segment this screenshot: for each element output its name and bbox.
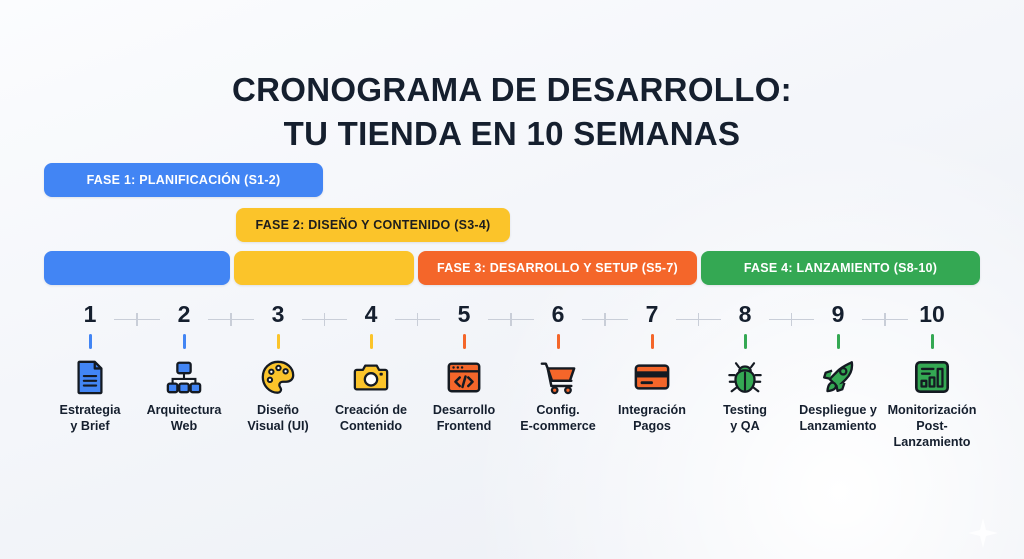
milestone-dash [463, 334, 466, 349]
credit-card-icon [633, 358, 671, 396]
phase-bar-label: FASE 3: DESARROLLO Y SETUP (S5-7) [437, 261, 678, 275]
phase-bar-label: FASE 1: PLANIFICACIÓN (S1-2) [87, 173, 281, 187]
milestone-dash [744, 334, 747, 349]
milestone-dash [651, 334, 654, 349]
timeline-connector [769, 313, 814, 327]
timeline-connector [395, 313, 440, 327]
connector-tick [884, 313, 885, 326]
milestone-label: Despliegue y Lanzamiento [788, 402, 888, 434]
milestone-label: Estrategia y Brief [40, 402, 140, 434]
milestone-label: Integración Pagos [602, 402, 702, 434]
phase-bar-label: FASE 2: DISEÑO Y CONTENIDO (S3-4) [256, 218, 491, 232]
milestone-dash [89, 334, 92, 349]
timeline-connector [114, 313, 160, 327]
milestone-dash [277, 334, 280, 349]
milestone-dash [837, 334, 840, 349]
palette-icon [259, 358, 297, 396]
connector-tick [417, 313, 418, 326]
connector-tick [791, 313, 792, 326]
sparkle-icon [968, 518, 998, 548]
rocket-icon [819, 358, 857, 396]
milestone-label: Monitorización Post- Lanzamiento [882, 402, 982, 450]
cart-icon [539, 358, 577, 396]
camera-icon [352, 358, 390, 396]
milestone-label: Config. E-commerce [508, 402, 608, 434]
analytics-icon [913, 358, 951, 396]
milestone-label: Diseño Visual (UI) [228, 402, 328, 434]
phase-bar-fase-3: FASE 3: DESARROLLO Y SETUP (S5-7) [418, 251, 697, 285]
milestone-label: Testing y QA [695, 402, 795, 434]
milestone-dash [557, 334, 560, 349]
timeline-connector [862, 313, 908, 327]
code-window-icon [445, 358, 483, 396]
timeline-connector [488, 313, 534, 327]
timeline-connector [208, 313, 254, 327]
timeline-connector [676, 313, 721, 327]
sitemap-icon [165, 358, 203, 396]
connector-tick [136, 313, 137, 326]
infographic-canvas: CRONOGRAMA DE DESARROLLO: TU TIENDA EN 1… [0, 0, 1024, 559]
connector-tick [698, 313, 699, 326]
phase-bar-fase-4: FASE 4: LANZAMIENTO (S8-10) [701, 251, 980, 285]
connector-tick [324, 313, 325, 326]
milestone-label: Creación de Contenido [321, 402, 421, 434]
phase-bar-fase-1-track [44, 251, 230, 285]
phase-bar-fase-2-track [234, 251, 414, 285]
milestone-label: Arquitectura Web [134, 402, 234, 434]
milestone-dash [931, 334, 934, 349]
timeline-connector [302, 313, 347, 327]
phase-bar-fase-2: FASE 2: DISEÑO Y CONTENIDO (S3-4) [236, 208, 510, 242]
phase-bars: FASE 1: PLANIFICACIÓN (S1-2)FASE 2: DISE… [0, 0, 1024, 290]
milestone-dash [370, 334, 373, 349]
bug-icon [726, 358, 764, 396]
connector-tick [510, 313, 511, 326]
document-icon [71, 358, 109, 396]
phase-bar-label: FASE 4: LANZAMIENTO (S8-10) [744, 261, 937, 275]
milestone-label: Desarrollo Frontend [414, 402, 514, 434]
phase-bar-fase-1: FASE 1: PLANIFICACIÓN (S1-2) [44, 163, 323, 197]
timeline-connector [582, 313, 628, 327]
connector-tick [230, 313, 231, 326]
milestone-dash [183, 334, 186, 349]
milestone-timeline: 1Estrategia y Brief2Arquitectura Web3Dis… [0, 300, 1024, 500]
connector-tick [604, 313, 605, 326]
